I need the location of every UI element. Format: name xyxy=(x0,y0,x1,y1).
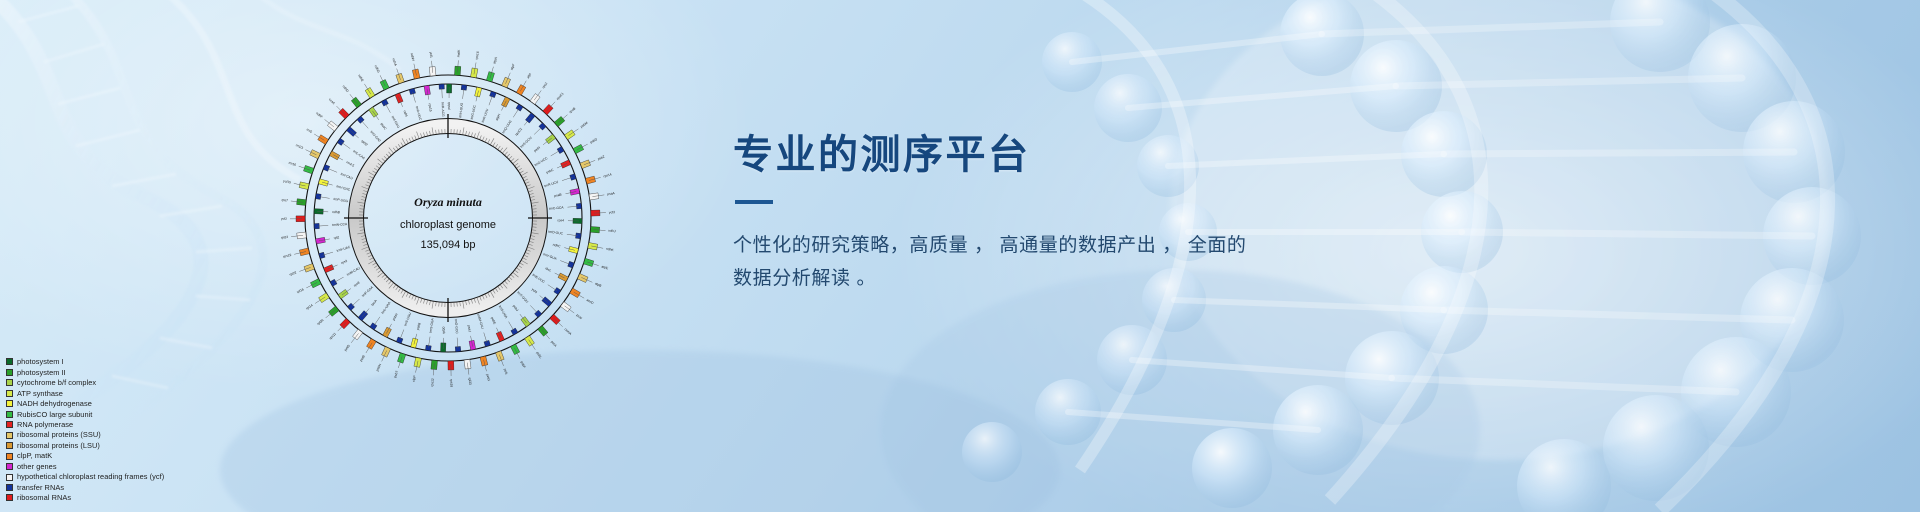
genome-gene-label: atpE xyxy=(601,264,609,270)
genome-gene-label: rps15 xyxy=(428,103,433,112)
genome-gene-label: rps4 xyxy=(558,218,565,222)
legend-item-label: transfer RNAs xyxy=(17,483,64,492)
legend-item-label: hypothetical chloroplast reading frames … xyxy=(17,472,164,481)
legend-item-label: other genes xyxy=(17,462,57,471)
genome-gene-label: psbN xyxy=(375,363,382,372)
genome-feature xyxy=(575,233,581,239)
genome-gene-label: rps12 xyxy=(430,378,435,387)
legend-color-swatch xyxy=(6,379,13,386)
genome-gene-label: trnH-GUG xyxy=(458,102,464,118)
genome-gene-label: psbZ xyxy=(597,155,605,161)
genome-gene-label: rpl23 xyxy=(281,235,289,240)
genome-gene-label: atpI xyxy=(526,72,532,79)
genome-gene-label: trnV-GAC xyxy=(336,184,351,192)
legend-item: other genes xyxy=(6,462,256,471)
genome-gene-label: psbD xyxy=(589,137,598,144)
genome-gene-label: ndhD xyxy=(342,84,350,93)
genome-gene-label: petG xyxy=(485,374,491,382)
genome-feature xyxy=(511,328,518,335)
genome-gene-label: ycf3 xyxy=(609,210,615,214)
genome-gene-label: trnL-CAA xyxy=(352,149,366,161)
genome-gene-label: rpl14 xyxy=(305,303,313,310)
genome-gene-label: rps7 xyxy=(281,198,288,203)
genome-gene-label: psaB xyxy=(554,192,563,198)
genome-gene-label: atpF xyxy=(509,63,515,71)
legend-item: ribosomal proteins (LSU) xyxy=(6,441,256,450)
genome-gene-label: trnR-ACG xyxy=(441,102,446,117)
genome-gene-label: rps8 xyxy=(353,281,361,288)
genome-gene-label: rps2 xyxy=(541,81,548,89)
legend-item: hypothetical chloroplast reading frames … xyxy=(6,472,256,481)
legend-item: ribosomal RNAs xyxy=(6,493,256,502)
genome-gene-label: psbA xyxy=(447,101,451,109)
genome-gene-label: ycf4 xyxy=(531,287,538,294)
genome-gene-label: psbM xyxy=(580,121,589,129)
legend-color-swatch xyxy=(6,390,13,397)
genome-gene-label: atpB xyxy=(594,282,603,289)
genome-gene-label: rps19 xyxy=(283,253,292,259)
genome-gene-label: ndhF xyxy=(315,111,323,119)
genome-gene-label: petB xyxy=(359,354,366,363)
genome-gene-label: psbC xyxy=(546,167,555,174)
genome-gene-label: trnW-CCA xyxy=(332,222,348,227)
legend-color-swatch xyxy=(6,411,13,418)
genome-gene-label: rrn23 xyxy=(295,143,304,150)
genome-gene-label: petD xyxy=(343,343,351,351)
genome-gene-label: rpoC2 xyxy=(514,127,523,137)
genome-gene-label: trnS-GCU xyxy=(519,135,533,148)
legend-item-label: NADH dehydrogenase xyxy=(17,399,92,408)
genome-gene-label: ycf15 xyxy=(283,179,292,185)
genome-gene-label: rps18 xyxy=(449,379,453,387)
genome-gene-label: psaA xyxy=(607,191,616,196)
genome-gene-label: trnD-GUC xyxy=(548,230,564,236)
genome-gene-label: psbJ xyxy=(512,304,520,312)
genome-gene-label: psbB xyxy=(416,321,422,330)
genome-legend: photosystem Iphotosystem IIcytochrome b/… xyxy=(6,357,256,504)
genome-gene-label: trnC-GCA xyxy=(549,205,565,210)
genome-gene-label: ndhH xyxy=(410,53,416,62)
genome-gene-label: cemA xyxy=(564,327,573,336)
legend-color-swatch xyxy=(6,494,13,501)
genome-gene-label: trnS-GGA xyxy=(429,317,435,333)
legend-item-label: photosystem I xyxy=(17,357,64,366)
genome-gene-label: ndhG xyxy=(374,64,381,73)
genome-gene-label: trnG-GCC xyxy=(454,319,459,335)
genome-gene-label: trnV-UAC xyxy=(336,245,351,253)
genome-gene-label: ycf1 xyxy=(429,52,434,59)
genome-gene-label: rpoB xyxy=(568,106,576,114)
genome-gene-label: trnI-GAU xyxy=(391,115,401,129)
legend-item-label: ribosomal proteins (LSU) xyxy=(17,441,100,450)
genome-gene-label: atpA xyxy=(492,56,498,64)
genome-gc-ring xyxy=(356,126,540,310)
legend-item: ATP synthase xyxy=(6,388,256,397)
genome-gene-label: trnG-UCC xyxy=(470,104,477,120)
genome-gene-label: trnM-CAU xyxy=(346,266,361,277)
genome-gene-label: trnQ-UUG xyxy=(501,119,513,134)
genome-gene-label: ndhI xyxy=(402,110,408,118)
genome-gene-label: ndhB xyxy=(332,210,341,214)
genome-gene-label: psbT xyxy=(393,370,399,378)
legend-item-label: ribosomal RNAs xyxy=(17,493,71,502)
genome-gene-label: trnS-UGA xyxy=(498,305,509,320)
legend-item: photosystem II xyxy=(6,367,256,376)
genome-gene-label: ndhA xyxy=(391,58,398,67)
legend-color-swatch xyxy=(6,474,13,481)
genome-gene-label: trnfM-CAU xyxy=(476,313,485,330)
genome-feature xyxy=(425,345,431,351)
title-underline-rule xyxy=(735,200,773,204)
genome-feature xyxy=(557,146,564,153)
legend-item-label: photosystem II xyxy=(17,368,66,377)
genome-feature xyxy=(554,287,561,294)
genome-gene-label: trnA-UGC xyxy=(415,106,423,122)
genome-gene-label: ycf2 xyxy=(281,217,287,221)
genome-gene-label: matK xyxy=(456,49,461,58)
genome-subtitle: chloroplast genome xyxy=(400,219,496,231)
genome-gene-label: trnG-UCC xyxy=(534,156,549,167)
legend-item-label: ATP synthase xyxy=(17,389,63,398)
genome-feature xyxy=(381,99,388,106)
legend-item: photosystem I xyxy=(6,357,256,366)
legend-item-label: cytochrome b/f complex xyxy=(17,378,96,387)
genome-gene-label: ndhC xyxy=(552,243,561,249)
genome-gene-label: rpl32 xyxy=(360,139,368,147)
chloroplast-genome-map: psbAmatKtrnH-GUGrps16trnG-UCCatpAtrnK-UU… xyxy=(228,6,668,426)
genome-feature xyxy=(315,193,321,199)
genome-gene-label: rps16 xyxy=(474,51,479,60)
legend-color-swatch xyxy=(6,421,13,428)
genome-gene-label: ndhJ xyxy=(608,229,616,234)
genome-gene-label: trnF-GAA xyxy=(361,285,375,298)
legend-item-label: ribosomal proteins (SSU) xyxy=(17,430,101,439)
legend-item: NADH dehydrogenase xyxy=(6,399,256,408)
genome-gene-label: trnE-UUC xyxy=(532,273,547,285)
genome-gene-label: trnK-UUU xyxy=(481,108,490,123)
legend-color-swatch xyxy=(6,369,13,376)
genome-gene-label: rps14 xyxy=(603,172,612,178)
genome-gene-label: petL xyxy=(503,368,509,376)
genome-gene-label: rrn4.5 xyxy=(346,160,356,168)
legend-item: transfer RNAs xyxy=(6,483,256,492)
genome-gene-label: psaI xyxy=(575,313,582,320)
genome-gene-label: rrn16 xyxy=(288,161,297,167)
genome-gene-label: psaC xyxy=(380,122,388,131)
genome-gene-label: rps11 xyxy=(328,332,337,341)
legend-color-swatch xyxy=(6,358,13,365)
genome-feature xyxy=(461,85,467,91)
genome-gene-label: rbcL xyxy=(545,266,553,273)
legend-item-label: clpP, matK xyxy=(17,451,52,460)
legend-item: RNA polymerase xyxy=(6,420,256,429)
legend-color-swatch xyxy=(6,400,13,407)
page-title: 专业的测序平台 xyxy=(733,131,1353,179)
legend-item: ribosomal proteins (SSU) xyxy=(6,430,256,439)
genome-gene-label: psaJ xyxy=(467,325,472,333)
page-description: 个性化的研究策略，高质量 ， 高通量的数据产出 ， 全面的数据分析解读 。 xyxy=(733,229,1253,295)
genome-gene-label: rrn5 xyxy=(306,127,313,134)
genome-feature xyxy=(330,279,337,286)
genome-gene-label: psbL xyxy=(535,351,542,359)
genome-gene-label: trnL-UAA xyxy=(380,301,391,315)
genome-feature xyxy=(337,138,344,145)
genome-gene-label: psbE xyxy=(490,316,497,325)
genome-feature xyxy=(323,165,330,172)
genome-gene-label: petA xyxy=(550,340,558,348)
genome-gene-label: rps3 xyxy=(340,259,348,265)
legend-color-swatch xyxy=(6,484,13,491)
genome-gene-label: ndhE xyxy=(357,74,365,83)
genome-gene-label: ccsA xyxy=(328,97,336,105)
genome-gene-label: rpl2 xyxy=(333,235,339,240)
genome-gene-label: trnI-CAU xyxy=(340,172,354,181)
genome-gene-label: petN xyxy=(533,145,541,153)
genome-gene-label: rpl33 xyxy=(467,377,472,385)
genome-gene-label: trnR-UCU xyxy=(544,180,560,189)
genome-gene-label: ndhK xyxy=(606,247,615,253)
genome-gene-label: trnT-UGU xyxy=(403,311,412,326)
legend-item: clpP, matK xyxy=(6,451,256,460)
legend-color-swatch xyxy=(6,432,13,439)
legend-color-swatch xyxy=(6,463,13,470)
genome-gene-label: rpl22 xyxy=(289,270,297,276)
genome-gene-label: rpoC1 xyxy=(556,91,565,100)
genome-gene-label: atpH xyxy=(495,113,502,122)
genome-gene-label: psbF xyxy=(520,360,527,368)
legend-color-swatch xyxy=(6,453,13,460)
legend-item-label: RNA polymerase xyxy=(17,420,73,429)
genome-feature xyxy=(516,104,523,111)
legend-color-swatch xyxy=(6,442,13,449)
genome-gene-label: trnP-UGG xyxy=(333,197,349,203)
genome-gene-label: rpoA xyxy=(370,298,378,306)
genome-gene-label: rpl20 xyxy=(442,326,446,334)
genome-organism-name: Oryza minuta xyxy=(414,195,482,209)
genome-gene-label: trnT-GGU xyxy=(516,291,529,305)
genome-gene-label: accD xyxy=(586,298,595,306)
legend-item-label: RubisCO large subunit xyxy=(17,410,92,419)
genome-gene-label: clpP xyxy=(412,374,417,382)
genome-gene-label: psbH xyxy=(392,312,399,321)
genome-feature xyxy=(370,323,377,330)
copy-block: 专业的测序平台 个性化的研究策略，高质量 ， 高通量的数据产出 ， 全面的数据分… xyxy=(733,131,1353,295)
genome-gene-label: rpl36 xyxy=(316,318,324,326)
genome-gene-label: rpl16 xyxy=(296,287,304,294)
banner-root: psbAmatKtrnH-GUGrps16trnG-UCCatpAtrnK-UU… xyxy=(0,0,1920,512)
genome-size: 135,094 bp xyxy=(420,239,475,251)
genome-gene-label: trnV-GAC xyxy=(369,130,382,144)
legend-item: cytochrome b/f complex xyxy=(6,378,256,387)
genome-gene-label: trnY-GUA xyxy=(543,252,558,261)
legend-item: RubisCO large subunit xyxy=(6,409,256,418)
